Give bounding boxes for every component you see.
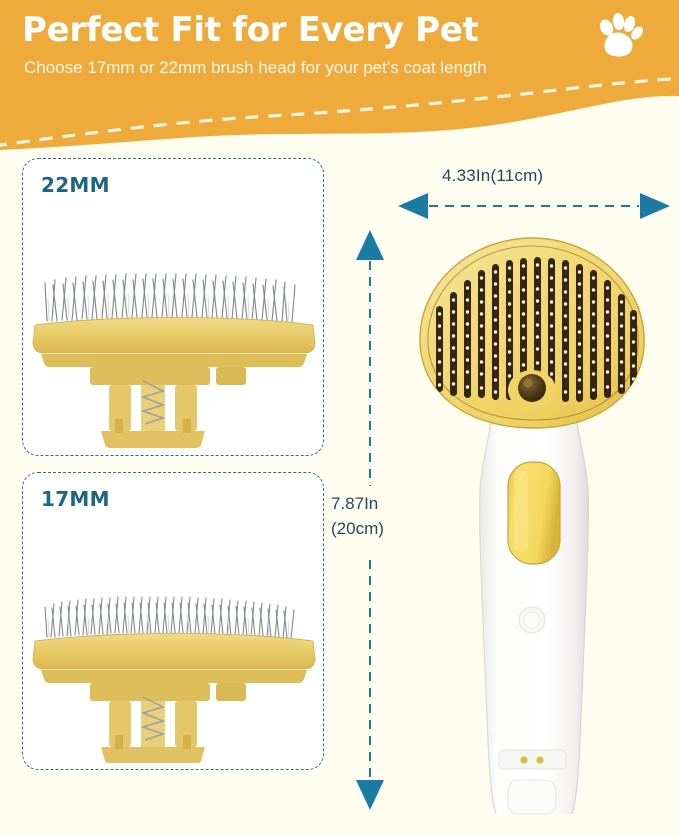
bracket-foot bbox=[101, 747, 205, 763]
self-clean-knob bbox=[518, 374, 546, 402]
indicator-button-inner bbox=[524, 612, 540, 628]
header-banner: Perfect Fit for Every Pet Choose 17mm or… bbox=[0, 0, 679, 150]
brush-head-22mm-icon bbox=[23, 259, 324, 449]
arrow-left-icon bbox=[398, 193, 428, 219]
brush-handle bbox=[480, 362, 589, 814]
card-label-22mm: 22MM bbox=[41, 173, 110, 197]
header-text-block: Perfect Fit for Every Pet Choose 17mm or… bbox=[22, 12, 622, 80]
arrow-down-icon bbox=[356, 780, 384, 810]
arrow-up-icon bbox=[356, 230, 384, 260]
brush-plate bbox=[33, 318, 315, 354]
card-label-17mm: 17MM bbox=[41, 487, 110, 511]
knob-highlight bbox=[524, 379, 533, 388]
width-dimension-arrow bbox=[398, 192, 670, 220]
width-dimension-label: 4.33In(11cm) bbox=[442, 166, 543, 186]
infographic-page: Perfect Fit for Every Pet Choose 17mm or… bbox=[0, 0, 679, 836]
brush-head-17mm-icon bbox=[23, 573, 324, 763]
bracket-foot bbox=[101, 431, 205, 448]
charging-contact-right bbox=[536, 756, 543, 763]
brush-head-card-17mm[interactable]: 17MM bbox=[22, 472, 324, 770]
power-button-highlight bbox=[514, 470, 528, 552]
bracket-bar bbox=[90, 683, 210, 701]
page-title: Perfect Fit for Every Pet bbox=[22, 12, 622, 49]
charging-port bbox=[499, 750, 566, 769]
brush-head-card-22mm[interactable]: 22MM bbox=[22, 158, 324, 456]
handle-base-detail bbox=[508, 780, 556, 814]
paw-icon bbox=[592, 10, 644, 62]
arrow-right-icon bbox=[640, 193, 670, 219]
brush-plate-rim bbox=[41, 670, 307, 683]
bracket-tab bbox=[216, 367, 246, 385]
brush-plate-rim bbox=[41, 354, 307, 367]
pet-grooming-brush-image bbox=[404, 222, 664, 822]
charging-contact-left bbox=[520, 756, 527, 763]
brush-head-17mm-image bbox=[23, 573, 324, 763]
bracket-bar bbox=[90, 367, 210, 385]
page-subtitle: Choose 17mm or 22mm brush head for your … bbox=[24, 57, 494, 80]
brush-plate bbox=[33, 634, 315, 670]
brush-head-22mm-image bbox=[23, 259, 324, 449]
height-dimension-arrow bbox=[352, 230, 388, 810]
bracket-tab bbox=[216, 683, 246, 701]
